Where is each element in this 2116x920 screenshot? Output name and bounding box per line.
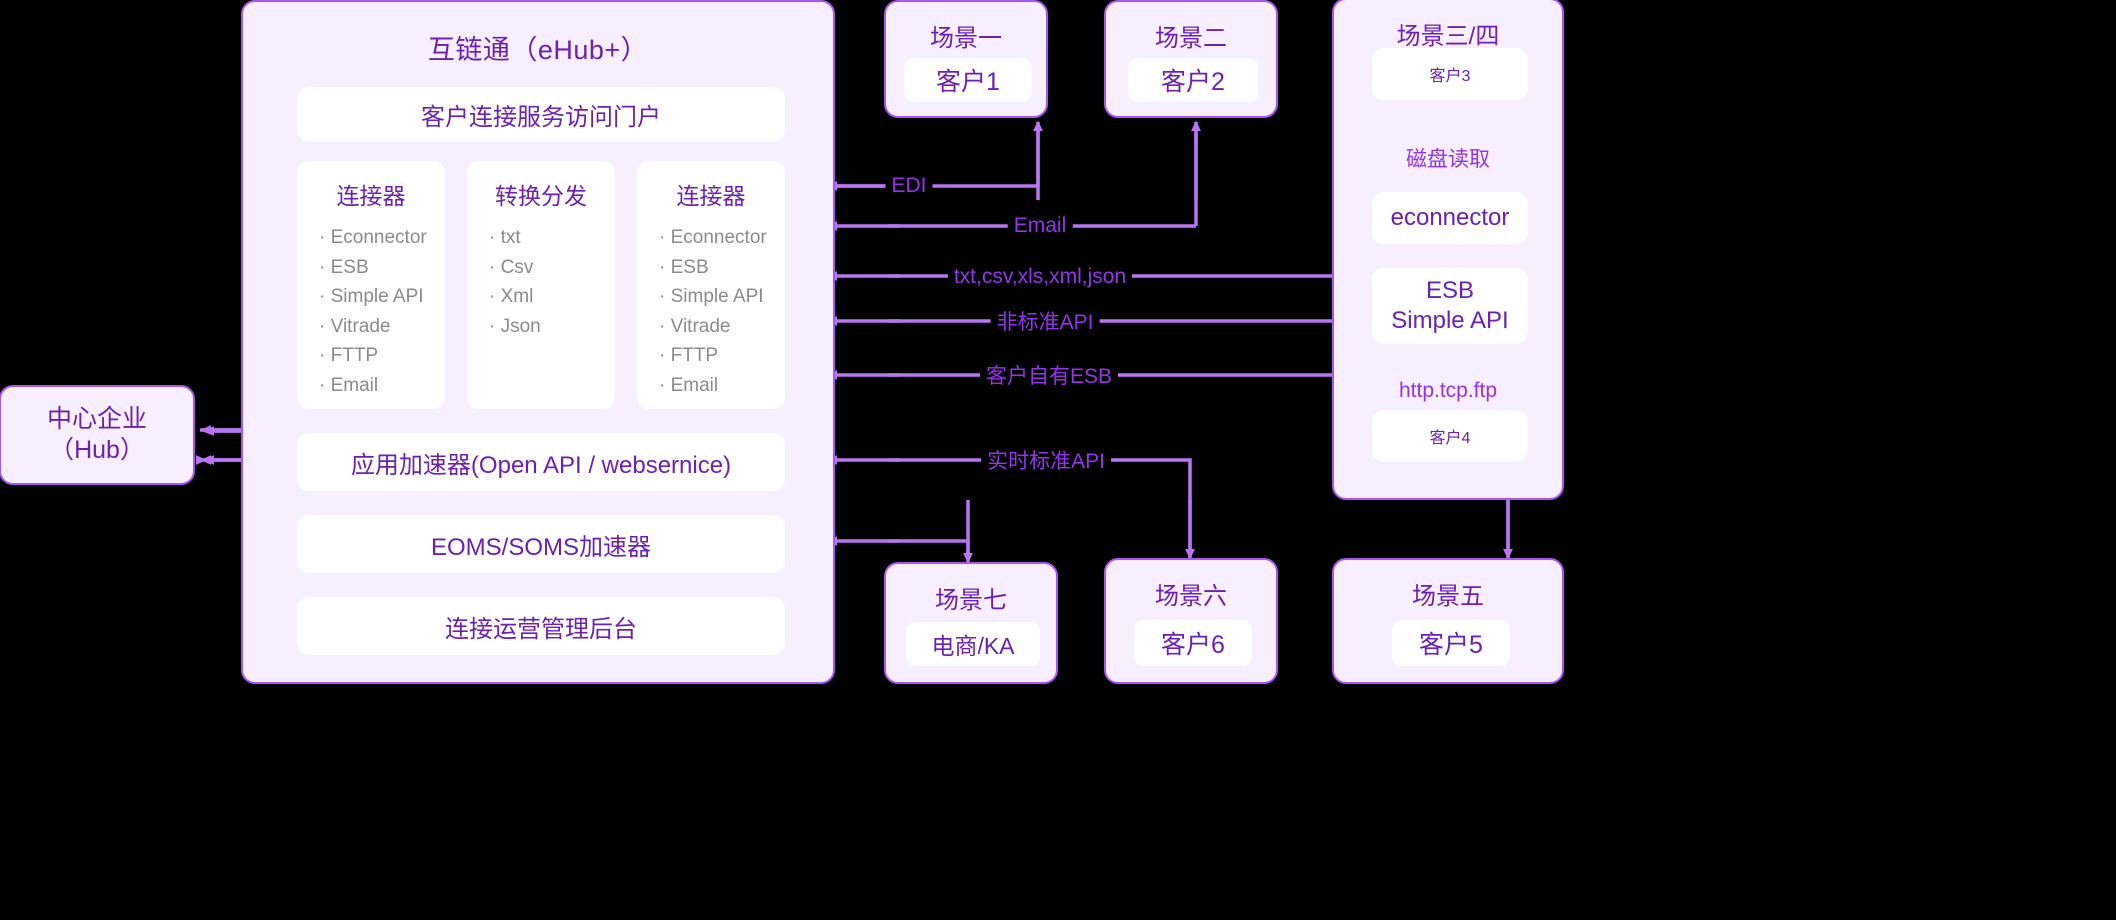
scenario-1-panel: 场景一 客户1: [884, 0, 1048, 118]
list-item: ESB: [319, 253, 445, 283]
transform-column-list: txt Csv Xml Json: [467, 223, 615, 341]
edge-label-nonstandard-api: 非标准API: [991, 306, 1100, 336]
edge-label-realtime-api: 实时标准API: [981, 445, 1111, 475]
hub-line2: （Hub）: [49, 435, 145, 466]
diagram-canvas: 中心企业 （Hub） 互链通（eHub+） 客户连接服务访问门户 连接器 Eco…: [0, 0, 2116, 920]
scenario-6-title: 场景六: [1106, 576, 1276, 611]
connector-column-1[interactable]: 连接器 Econnector ESB Simple API Vitrade FT…: [297, 161, 445, 409]
ehub-panel: 互链通（eHub+） 客户连接服务访问门户 连接器 Econnector ESB…: [241, 0, 835, 684]
scenario-1-customer[interactable]: 客户1: [904, 58, 1032, 102]
transform-column-title: 转换分发: [467, 177, 615, 211]
list-item: Simple API: [319, 282, 445, 312]
transform-column[interactable]: 转换分发 txt Csv Xml Json: [467, 161, 615, 409]
scenario-5-customer[interactable]: 客户5: [1392, 620, 1510, 666]
list-item: txt: [489, 223, 615, 253]
list-item: Csv: [489, 253, 615, 283]
scenario-2-panel: 场景二 客户2: [1104, 0, 1278, 118]
scenario-6-panel: 场景六 客户6: [1104, 558, 1278, 684]
scenario-6-customer[interactable]: 客户6: [1134, 620, 1252, 666]
scenario-2-title: 场景二: [1106, 18, 1276, 53]
scenario-34-panel: 场景三/四 客户3 econnector ESB Simple API 客户4: [1332, 0, 1564, 500]
esb-simple-api-card[interactable]: ESB Simple API: [1372, 268, 1528, 344]
scenario-5-panel: 场景五 客户5: [1332, 558, 1564, 684]
connector-column-1-list: Econnector ESB Simple API Vitrade FTTP E…: [297, 223, 445, 400]
econnector-card[interactable]: econnector: [1372, 192, 1528, 244]
scenario-5-title: 场景五: [1334, 576, 1562, 611]
customer3-card[interactable]: 客户3: [1372, 48, 1528, 100]
esb-label: ESB: [1426, 276, 1474, 306]
list-item: FTTP: [659, 341, 785, 371]
hub-box[interactable]: 中心企业 （Hub）: [0, 385, 195, 485]
list-item: FTTP: [319, 341, 445, 371]
hub-line1: 中心企业: [47, 404, 147, 435]
scenario-7-customer[interactable]: 电商/KA: [906, 622, 1040, 666]
customer4-card[interactable]: 客户4: [1372, 410, 1528, 462]
list-item: Email: [659, 371, 785, 401]
scenario-7-panel: 场景七 电商/KA: [884, 562, 1058, 684]
ehub-title: 互链通（eHub+）: [243, 28, 833, 67]
edge-label-own-esb: 客户自有ESB: [980, 360, 1118, 390]
simple-api-label: Simple API: [1391, 306, 1508, 336]
connector-column-1-title: 连接器: [297, 177, 445, 211]
management-backend-card[interactable]: 连接运营管理后台: [297, 597, 785, 655]
accelerator-card[interactable]: 应用加速器(Open API / websernice): [297, 433, 785, 491]
list-item: Xml: [489, 282, 615, 312]
portal-card[interactable]: 客户连接服务访问门户: [297, 87, 785, 142]
list-item: Email: [319, 371, 445, 401]
list-item: Json: [489, 312, 615, 342]
list-item: Vitrade: [319, 312, 445, 342]
edge-label-files: txt,csv,xls,xml,json: [948, 265, 1132, 289]
list-item: Vitrade: [659, 312, 785, 342]
scenario-1-title: 场景一: [886, 18, 1046, 53]
list-item: Simple API: [659, 282, 785, 312]
connector-column-2-list: Econnector ESB Simple API Vitrade FTTP E…: [637, 223, 785, 400]
edge-label-email: Email: [1008, 214, 1073, 238]
scenario-7-title: 场景七: [886, 580, 1056, 615]
list-item: Econnector: [319, 223, 445, 253]
edge-label-http-tcp-ftp: http.tcp.ftp: [1393, 379, 1503, 403]
connector-column-2[interactable]: 连接器 Econnector ESB Simple API Vitrade FT…: [637, 161, 785, 409]
scenario-2-customer[interactable]: 客户2: [1128, 58, 1258, 102]
edge-label-edi: EDI: [885, 174, 932, 198]
connector-column-2-title: 连接器: [637, 177, 785, 211]
edge-label-disk-read: 磁盘读取: [1400, 143, 1496, 173]
list-item: Econnector: [659, 223, 785, 253]
eoms-soms-card[interactable]: EOMS/SOMS加速器: [297, 515, 785, 573]
list-item: ESB: [659, 253, 785, 283]
scenario-34-title: 场景三/四: [1334, 16, 1562, 51]
